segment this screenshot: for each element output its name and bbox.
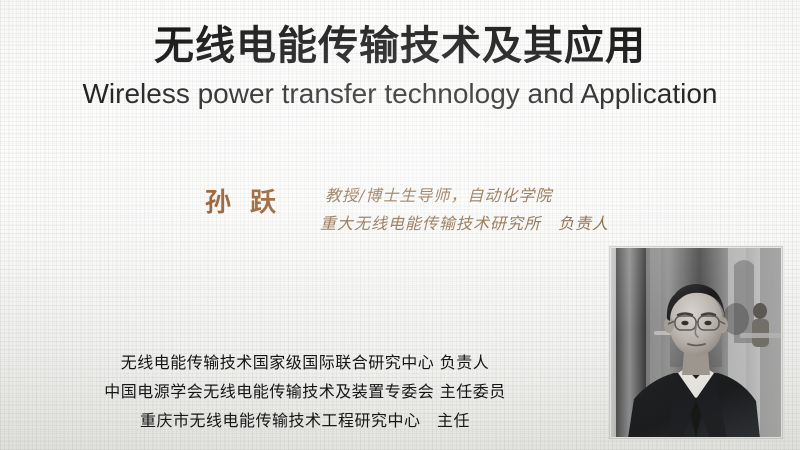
presenter-role-line-1: 教授/博士生导师，自动化学院 xyxy=(325,182,552,206)
presenter-role-line-2: 重大无线电能传输技术研究所 负责人 xyxy=(320,210,609,234)
page-subtitle-english: Wireless power transfer technology and A… xyxy=(0,77,800,111)
page-title-chinese: 无线电能传输技术及其应用 xyxy=(0,20,800,72)
presenter-portrait-photo xyxy=(610,247,782,438)
presentation-slide: 无线电能传输技术及其应用 Wireless power transfer tec… xyxy=(0,0,800,450)
portrait-illustration xyxy=(610,247,782,438)
presenter-name: 孙 跃 xyxy=(205,182,281,219)
credential-line: 中国电源学会无线电能传输技术及装置专委会 主任委员 xyxy=(0,377,610,406)
credentials-block: 无线电能传输技术国家级国际联合研究中心 负责人 中国电源学会无线电能传输技术及装… xyxy=(0,348,610,435)
credential-line: 重庆市无线电能传输技术工程研究中心 主任 xyxy=(0,406,610,435)
credential-line: 无线电能传输技术国家级国际联合研究中心 负责人 xyxy=(0,348,610,377)
